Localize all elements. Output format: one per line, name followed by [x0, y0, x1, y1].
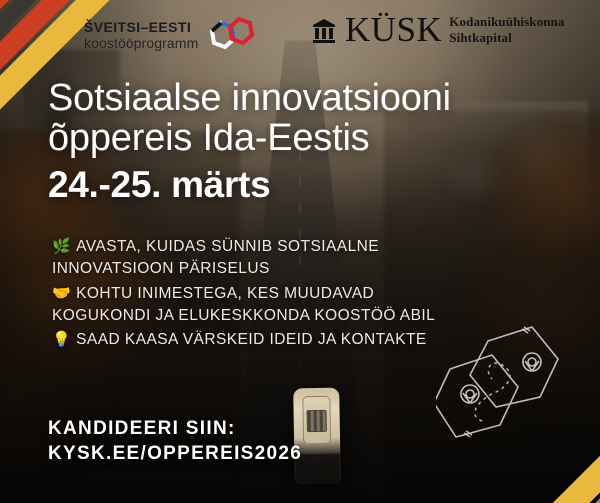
kusk-subtitle: Kodanikuühiskonna Sihtkapital — [449, 14, 564, 45]
map-pin-dot — [466, 390, 474, 398]
map-pin — [523, 353, 541, 371]
headline-line1: Sotsiaalse innovatsiooni — [48, 78, 560, 118]
benefit-list: 🌿AVASTA, KUIDAS SÜNNIB SOTSIAALNE INNOVA… — [52, 236, 452, 354]
call-to-action[interactable]: KANDIDEERI SIIN: KYSK.EE/OPPEREIS2026 — [48, 416, 302, 466]
headline: Sotsiaalse innovatsiooni õppereis Ida-Ee… — [48, 78, 560, 159]
cta-url[interactable]: KYSK.EE/OPPEREIS2026 — [48, 441, 302, 466]
deco-svg — [436, 325, 586, 455]
pillar-building-icon — [310, 16, 338, 44]
map-pin-dot — [528, 358, 536, 366]
kusk-subtitle-line1: Kodanikuühiskonna — [449, 14, 564, 29]
kusk-logo: KÜSK Kodanikuühiskonna Sihtkapital — [310, 12, 564, 47]
list-item: 🌿AVASTA, KUIDAS SÜNNIB SOTSIAALNE INNOVA… — [52, 236, 452, 281]
kusk-subtitle-line2: Sihtkapital — [449, 30, 564, 45]
swiss-estonia-wordmark: ŠVEITSI–EESTI koostööprogramm — [84, 20, 198, 50]
list-item-text: KOHTU INIMESTEGA, KES MUUDAVAD KOGUKONDI… — [52, 285, 435, 324]
map-pin — [461, 385, 479, 403]
kusk-wordmark: KÜSK — [345, 12, 442, 47]
list-item-text: AVASTA, KUIDAS SÜNNIB SOTSIAALNE INNOVAT… — [52, 238, 379, 277]
logo-bar: ŠVEITSI–EESTI koostööprogramm — [0, 0, 600, 66]
list-item-text: SAAD KAASA VÄRSKEID IDEID JA KONTAKTE — [76, 331, 427, 348]
light-bulb-icon: 💡 — [52, 331, 71, 348]
interlocking-hexagons-logo — [208, 13, 254, 57]
list-item: 🤝KOHTU INIMESTEGA, KES MUUDAVAD KOGUKOND… — [52, 283, 452, 328]
handshake-icon: 🤝 — [52, 285, 71, 302]
herb-icon: 🌿 — [52, 238, 71, 255]
swiss-logo-line2: koostööprogramm — [84, 36, 198, 50]
swiss-estonia-logo: ŠVEITSI–EESTI koostööprogramm — [84, 13, 254, 57]
poster-canvas: ŠVEITSI–EESTI koostööprogramm — [0, 0, 600, 503]
headline-line2: õppereis Ida-Eestis — [48, 118, 560, 158]
cta-line1: KANDIDEERI SIIN: — [48, 416, 302, 441]
swiss-logo-line1: ŠVEITSI–EESTI — [84, 20, 198, 34]
van-roof-hatch — [307, 410, 327, 432]
hexagon-map-route-graphic — [436, 325, 586, 455]
event-date: 24.-25. märts — [48, 166, 270, 203]
list-item: 💡SAAD KAASA VÄRSKEID IDEID JA KONTAKTE — [52, 329, 452, 351]
hexagon-outline — [436, 355, 518, 437]
